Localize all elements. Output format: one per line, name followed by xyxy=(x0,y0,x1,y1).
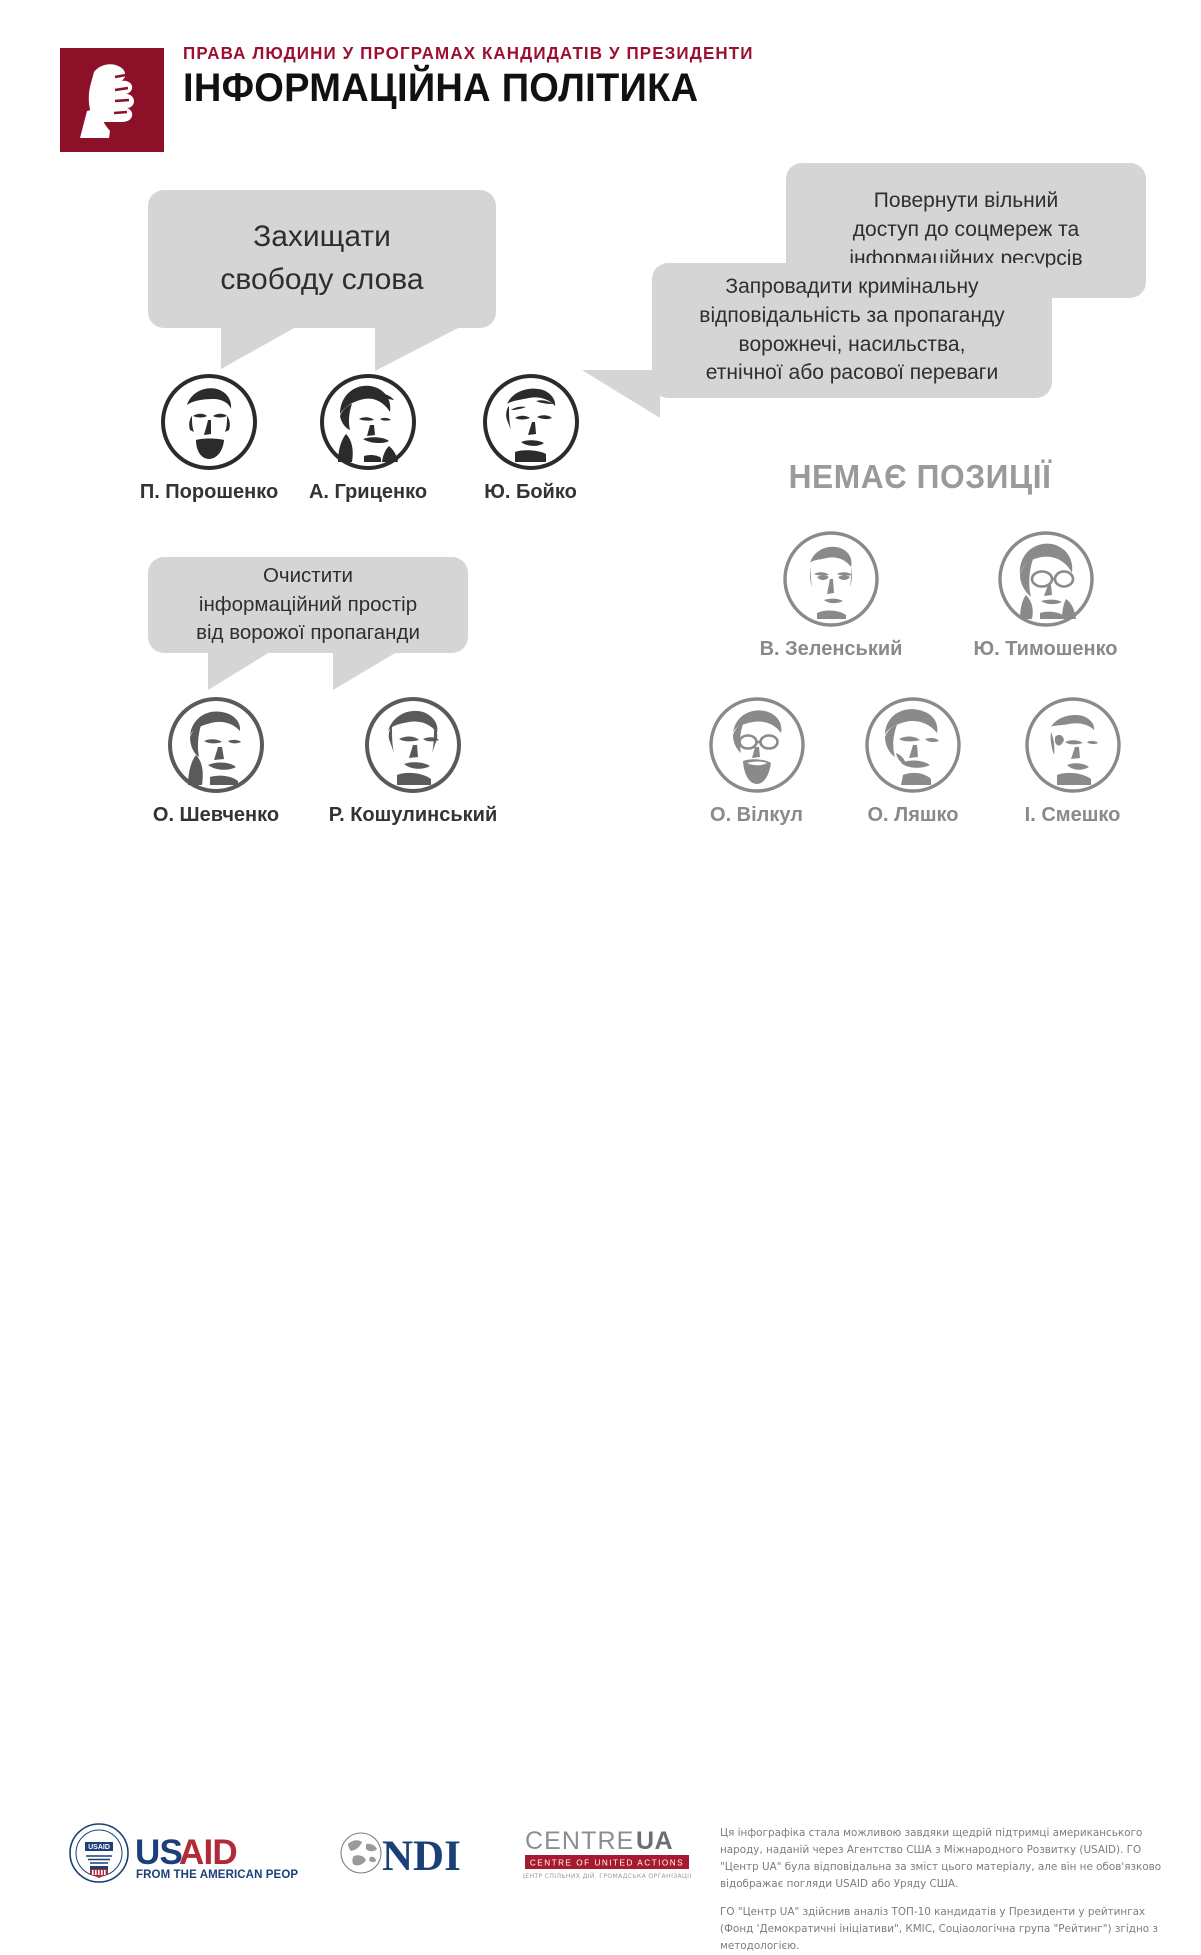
candidate-boyko: Ю. Бойко xyxy=(468,372,593,504)
candidate-zelensky: В. Зеленський xyxy=(751,529,911,661)
portrait-poroshenko xyxy=(159,372,259,472)
svg-text:CENTRE: CENTRE xyxy=(525,1827,634,1855)
bubble-clean-space-text: Очистити інформаційний простір від ворож… xyxy=(148,562,468,648)
candidate-name: Р. Кошулинський xyxy=(318,804,508,827)
page-footer: USAID US AID FROM THE AMERICAN PEOPLE xyxy=(0,900,1201,1041)
candidate-name: А. Гриценко xyxy=(303,481,433,504)
page-title: ІНФОРМАЦІЙНА ПОЛІТИКА xyxy=(183,67,742,109)
portrait-lyashko xyxy=(863,695,963,795)
ndi-logo: NDI xyxy=(338,1824,488,1887)
usaid-logo: USAID US AID FROM THE AMERICAN PEOPLE xyxy=(68,1820,298,1891)
candidate-tymoshenko: Ю. Тимошенко xyxy=(958,529,1133,661)
candidate-hrytsenko: А. Гриценко xyxy=(303,372,433,504)
portrait-shevchenko xyxy=(166,695,266,795)
candidate-name: Ю. Тимошенко xyxy=(958,638,1133,661)
svg-text:US: US xyxy=(135,1833,182,1872)
candidate-smeshko: І. Смешко xyxy=(1010,695,1135,827)
candidate-lyashko: О. Ляшко xyxy=(853,695,973,827)
candidate-name: О. Вілкул xyxy=(694,804,819,827)
svg-text:ЦЕНТР СПІЛЬНИХ ДІЙ. ГРОМАДСЬКА: ЦЕНТР СПІЛЬНИХ ДІЙ. ГРОМАДСЬКА ОРГАНІЗАЦ… xyxy=(523,1871,691,1880)
candidate-name: І. Смешко xyxy=(1010,804,1135,827)
portrait-koshulynskyi xyxy=(363,695,463,795)
candidate-poroshenko: П. Порошенко xyxy=(139,372,279,504)
svg-text:CENTRE OF UNITED ACTIONS: CENTRE OF UNITED ACTIONS xyxy=(530,1858,684,1867)
bubble-tail-clean-space-left xyxy=(208,652,270,690)
no-position-heading: НЕМАЄ ПОЗИЦІЇ xyxy=(762,458,1079,496)
candidate-name: Ю. Бойко xyxy=(468,481,593,504)
bubble-free-speech-text: Захищати свободу слова xyxy=(148,216,496,301)
footer-disclaimer: Ця інфографіка стала можливою завдяки ще… xyxy=(720,1825,1172,1955)
footer-note-paragraph-1: Ця інфографіка стала можливою завдяки ще… xyxy=(720,1825,1172,1892)
svg-text:AID: AID xyxy=(179,1833,237,1872)
header-text-block: ПРАВА ЛЮДИНИ У ПРОГРАМАХ КАНДИДАТІВ У ПР… xyxy=(183,44,771,109)
portrait-tymoshenko xyxy=(996,529,1096,629)
candidate-name: О. Ляшко xyxy=(853,804,973,827)
svg-text:USAID: USAID xyxy=(88,1844,110,1851)
centreua-logo: CENTRE UA CENTRE OF UNITED ACTIONS ЦЕНТР… xyxy=(523,1825,691,1888)
bubble-tail-criminal-liability xyxy=(582,370,660,418)
candidate-name: П. Порошенко xyxy=(139,481,279,504)
portrait-boyko xyxy=(481,372,581,472)
portrait-vilkul xyxy=(707,695,807,795)
candidate-vilkul: О. Вілкул xyxy=(694,695,819,827)
bubble-criminal-liability: Запровадити кримінальну відповідальність… xyxy=(652,263,1052,398)
candidate-name: О. Шевченко xyxy=(136,804,296,827)
bubble-tail-clean-space-right xyxy=(333,652,397,690)
candidate-koshulynskyi: Р. Кошулинський xyxy=(318,695,508,827)
bubble-tail-free-speech-left xyxy=(221,327,296,369)
bubble-clean-space: Очистити інформаційний простір від ворож… xyxy=(148,557,468,653)
page-header: ПРАВА ЛЮДИНИ У ПРОГРАМАХ КАНДИДАТІВ У ПР… xyxy=(0,0,1201,165)
portrait-zelensky xyxy=(781,529,881,629)
header-eyebrow: ПРАВА ЛЮДИНИ У ПРОГРАМАХ КАНДИДАТІВ У ПР… xyxy=(183,44,754,63)
footer-note-paragraph-2: ГО "Центр UA" здійснив аналіз ТОП-10 кан… xyxy=(720,1904,1172,1955)
svg-text:UA: UA xyxy=(636,1827,673,1855)
bubble-criminal-liability-text: Запровадити кримінальну відповідальність… xyxy=(652,273,1052,389)
candidate-name: В. Зеленський xyxy=(751,638,911,661)
raised-fist-icon xyxy=(60,48,164,152)
bubble-free-speech: Захищати свободу слова xyxy=(148,190,496,328)
candidate-shevchenko: О. Шевченко xyxy=(136,695,296,827)
svg-text:NDI: NDI xyxy=(382,1833,461,1880)
portrait-smeshko xyxy=(1023,695,1123,795)
bubble-social-access-text: Повернути вільний доступ до соцмереж та … xyxy=(786,187,1146,274)
svg-text:FROM THE AMERICAN PEOPLE: FROM THE AMERICAN PEOPLE xyxy=(136,1869,298,1881)
portrait-hrytsenko xyxy=(318,372,418,472)
bubble-tail-free-speech-right xyxy=(375,327,460,371)
